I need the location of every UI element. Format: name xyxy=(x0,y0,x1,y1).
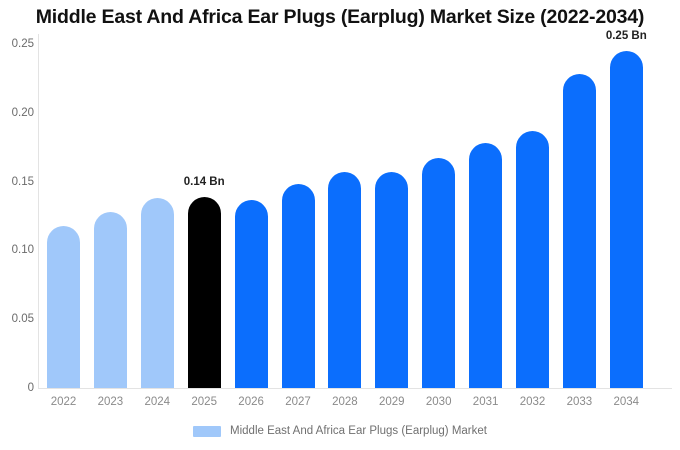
bar-2029[interactable] xyxy=(375,172,408,388)
bar-2031[interactable] xyxy=(469,143,502,388)
bar-value-label-2034: 0.25 Bn xyxy=(606,30,647,42)
x-tick-label-2031: 2031 xyxy=(473,396,499,408)
bar-2025[interactable] xyxy=(188,197,221,388)
bar-2030[interactable] xyxy=(422,158,455,388)
x-tick-label-2022: 2022 xyxy=(51,396,77,408)
bar-2027[interactable] xyxy=(282,184,315,388)
x-tick-label-2024: 2024 xyxy=(145,396,171,408)
x-tick-label-2025: 2025 xyxy=(191,396,217,408)
bar-2026[interactable] xyxy=(235,200,268,389)
bar-chart: Middle East And Africa Ear Plugs (Earplu… xyxy=(0,0,680,450)
bar-2023[interactable] xyxy=(94,212,127,388)
x-tick-label-2023: 2023 xyxy=(98,396,124,408)
chart-legend: Middle East And Africa Ear Plugs (Earplu… xyxy=(0,425,680,437)
bar-2028[interactable] xyxy=(328,172,361,388)
x-tick-label-2033: 2033 xyxy=(567,396,593,408)
bar-2032[interactable] xyxy=(516,131,549,388)
bars-layer: 2022202320240.14 Bn202520262027202820292… xyxy=(0,0,680,450)
x-tick-label-2027: 2027 xyxy=(285,396,311,408)
legend-swatch xyxy=(193,426,221,437)
x-tick-label-2034: 2034 xyxy=(614,396,640,408)
bar-2033[interactable] xyxy=(563,74,596,388)
x-tick-label-2026: 2026 xyxy=(238,396,264,408)
x-tick-label-2032: 2032 xyxy=(520,396,546,408)
bar-2022[interactable] xyxy=(47,226,80,388)
x-tick-label-2028: 2028 xyxy=(332,396,358,408)
x-tick-label-2029: 2029 xyxy=(379,396,405,408)
bar-2024[interactable] xyxy=(141,198,174,388)
legend-label: Middle East And Africa Ear Plugs (Earplu… xyxy=(230,425,487,437)
bar-value-label-2025: 0.14 Bn xyxy=(184,176,225,188)
bar-2034[interactable] xyxy=(610,51,643,388)
x-tick-label-2030: 2030 xyxy=(426,396,452,408)
